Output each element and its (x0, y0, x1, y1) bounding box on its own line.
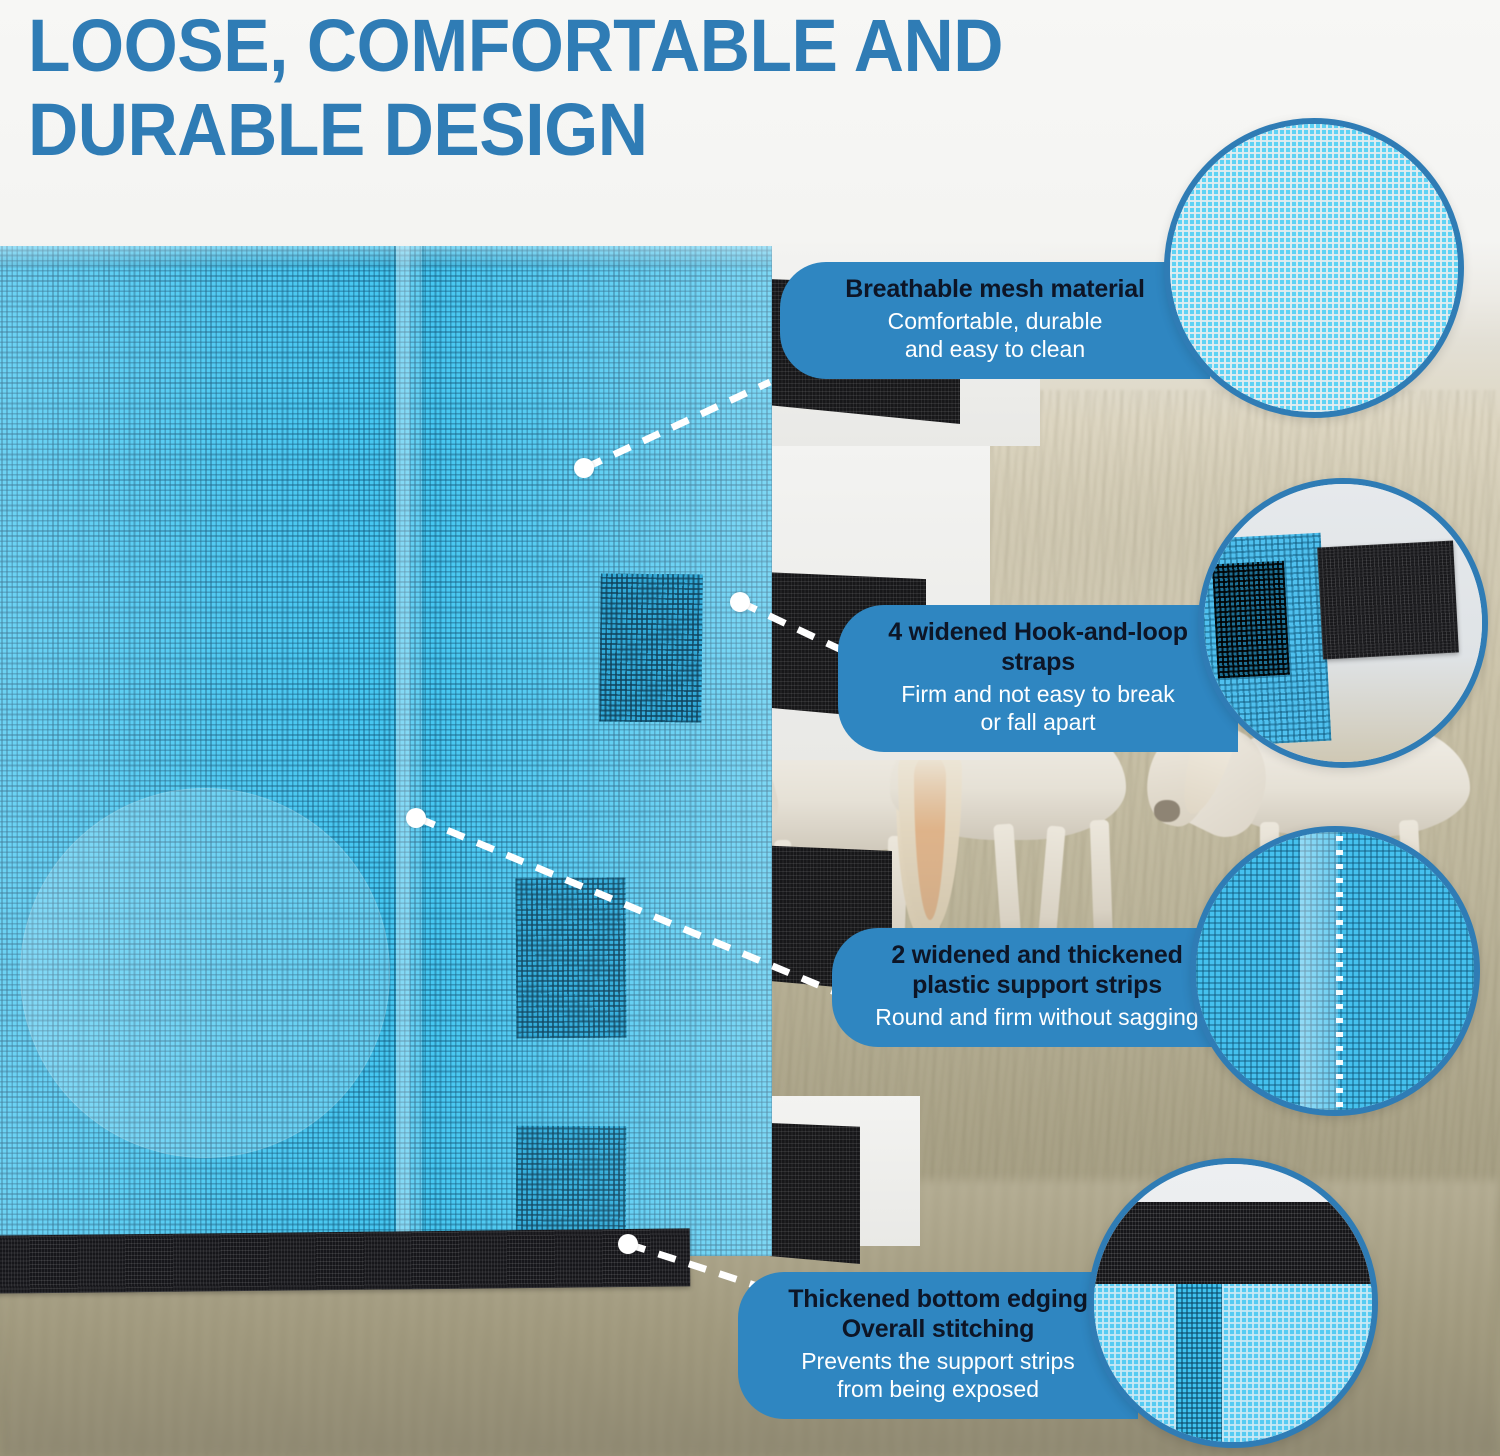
plastic-support-strip (1300, 826, 1338, 1116)
leader-dot-mesh (574, 458, 594, 478)
page-title: LOOSE, COMFORTABLE AND DURABLE DESIGN (28, 4, 1137, 172)
callout-title: Breathable mesh material (806, 274, 1184, 304)
callout-subtitle: Comfortable, durableand easy to clean (806, 307, 1184, 363)
leader-dot-straps (730, 592, 750, 612)
attached-velcro-patch (1212, 561, 1290, 679)
callout-title: Thickened bottom edging Overall stitchin… (764, 1284, 1112, 1344)
stitch-line (1336, 826, 1343, 1116)
callout-breathable-mesh-material[interactable]: Breathable mesh material Comfortable, du… (780, 262, 1210, 379)
mesh-strap-piece (1198, 533, 1331, 747)
inset-mesh-closeup (1164, 118, 1464, 418)
leader-dot-bottom-edging (618, 1234, 638, 1254)
callout-subtitle: Firm and not easy to breakor fall apart (864, 680, 1212, 736)
headline-line-2: DURABLE DESIGN (28, 88, 1137, 172)
mesh-below-edging (1088, 1284, 1378, 1448)
callout-title: 2 widened and thickened plastic support … (858, 940, 1216, 1000)
callout-subtitle: Round and firm without sagging (858, 1003, 1216, 1031)
infographic-canvas: Breathable mesh material Comfortable, du… (0, 0, 1500, 1456)
callout-hook-and-loop-straps[interactable]: 4 widened Hook-and-loop straps Firm and … (838, 605, 1238, 752)
vertical-stitch-seam (1176, 1284, 1222, 1448)
mesh-weave-detail (1170, 124, 1458, 412)
callout-subtitle: Prevents the support stripsfrom being ex… (764, 1347, 1112, 1403)
headline-line-1: LOOSE, COMFORTABLE AND (28, 4, 1137, 88)
inset-bottom-edging-closeup (1088, 1158, 1378, 1448)
callout-thickened-bottom-edging[interactable]: Thickened bottom edging Overall stitchin… (738, 1272, 1138, 1419)
callout-title: 4 widened Hook-and-loop straps (864, 617, 1212, 677)
loose-velcro-square (1317, 541, 1459, 660)
inset-support-strip-closeup (1190, 826, 1480, 1116)
black-webbing-edging (1088, 1202, 1378, 1286)
inset-hook-and-loop-closeup (1198, 478, 1488, 768)
callout-plastic-support-strips[interactable]: 2 widened and thickened plastic support … (832, 928, 1242, 1047)
leader-dot-support-strips (406, 808, 426, 828)
